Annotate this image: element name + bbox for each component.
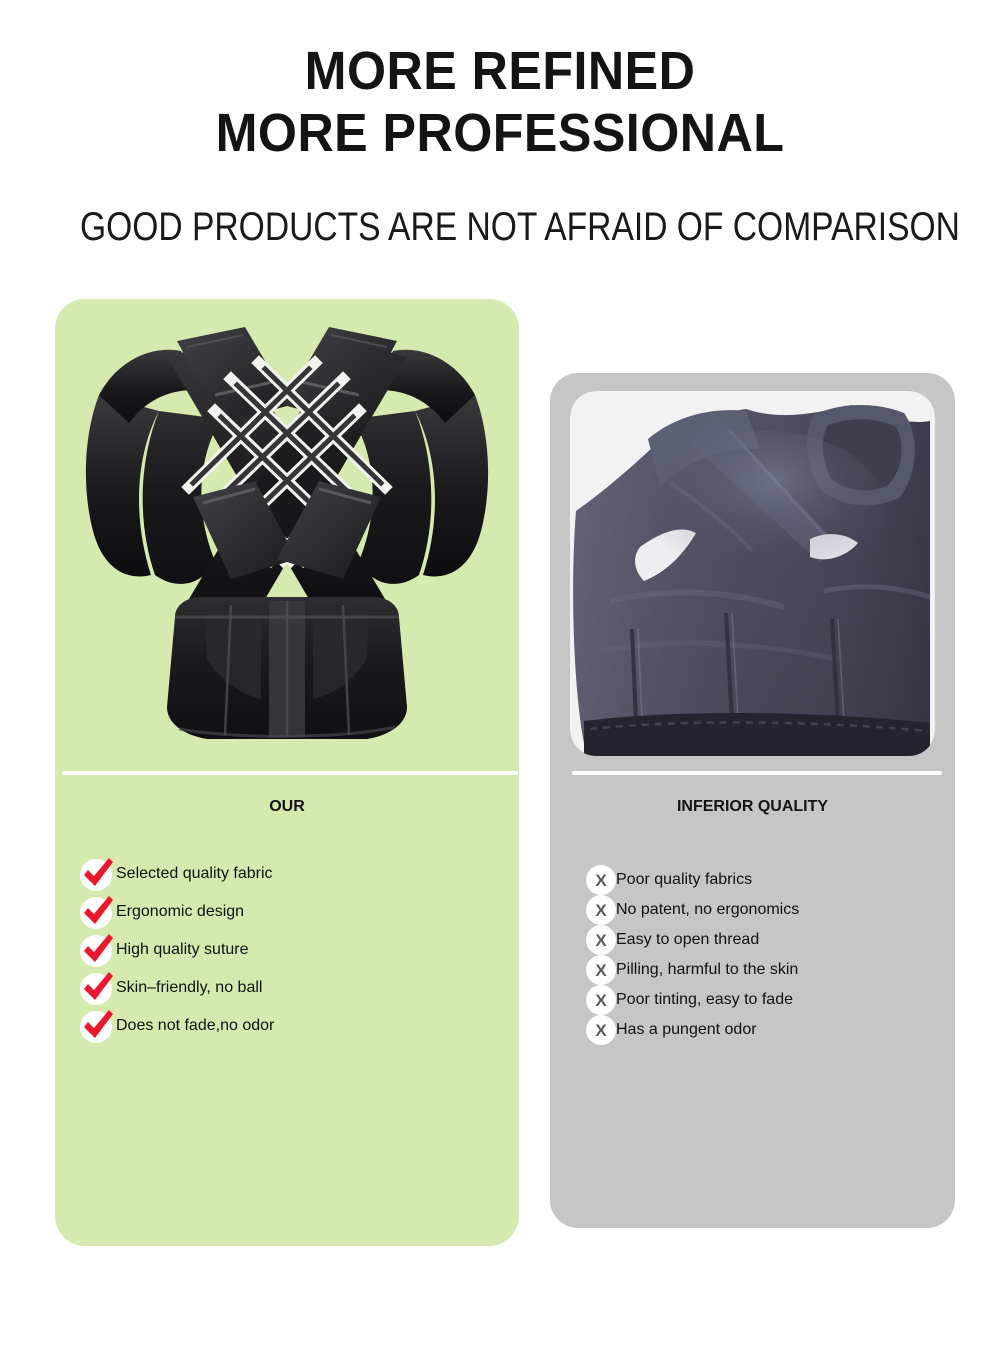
gray-x-icon: X (586, 985, 616, 1015)
list-item-label: Skin–friendly, no ball (116, 979, 262, 997)
gray-x-icon: X (586, 865, 616, 895)
list-item: X Pilling, harmful to the skin (586, 955, 956, 985)
title-line-2: MORE PROFESSIONAL (35, 102, 965, 164)
red-check-icon (78, 1007, 116, 1045)
inferior-feature-list: X Poor quality fabrics X No patent, no e… (586, 865, 956, 1045)
good-column-title: OUR (55, 798, 519, 816)
good-divider (62, 771, 518, 775)
list-item: Skin–friendly, no ball (78, 969, 518, 1007)
inferior-vest-illustration (570, 391, 935, 756)
inferior-column-title: INFERIOR QUALITY (550, 798, 955, 816)
list-item: High quality suture (78, 931, 518, 969)
list-item: Ergonomic design (78, 893, 518, 931)
list-item: Selected quality fabric (78, 855, 518, 893)
gray-x-icon: X (586, 955, 616, 985)
good-product-image (55, 299, 519, 764)
good-product-panel: OUR Selected quality fabric Ergonomic de… (55, 299, 519, 1246)
list-item-label: Selected quality fabric (116, 865, 273, 883)
list-item-label: Ergonomic design (116, 903, 244, 921)
posture-brace-illustration (55, 299, 519, 764)
list-item-label: Poor tinting, easy to fade (616, 991, 793, 1009)
red-check-icon (78, 931, 116, 969)
list-item: X Poor tinting, easy to fade (586, 985, 956, 1015)
red-check-icon (78, 893, 116, 931)
list-item-label: No patent, no ergonomics (616, 901, 799, 919)
list-item-label: Easy to open thread (616, 931, 759, 949)
page-subtitle: GOOD PRODUCTS ARE NOT AFRAID OF COMPARIS… (80, 205, 920, 250)
list-item: X Poor quality fabrics (586, 865, 956, 895)
page-title: MORE REFINED MORE PROFESSIONAL (0, 40, 1000, 164)
list-item: Does not fade,no odor (78, 1007, 518, 1045)
inferior-product-panel: INFERIOR QUALITY X Poor quality fabrics … (550, 373, 955, 1228)
list-item: X No patent, no ergonomics (586, 895, 956, 925)
list-item: X Easy to open thread (586, 925, 956, 955)
list-item-label: Has a pungent odor (616, 1021, 757, 1039)
list-item-label: Does not fade,no odor (116, 1017, 274, 1035)
red-check-icon (78, 855, 116, 893)
good-feature-list: Selected quality fabric Ergonomic design… (78, 855, 518, 1045)
inferior-product-image (570, 391, 935, 756)
title-line-1: MORE REFINED (35, 40, 965, 102)
list-item-label: Pilling, harmful to the skin (616, 961, 798, 979)
gray-x-icon: X (586, 1015, 616, 1045)
list-item: X Has a pungent odor (586, 1015, 956, 1045)
gray-x-icon: X (586, 895, 616, 925)
comparison-infographic: MORE REFINED MORE PROFESSIONAL GOOD PROD… (0, 0, 1000, 1352)
inferior-divider (572, 771, 942, 775)
list-item-label: High quality suture (116, 941, 249, 959)
gray-x-icon: X (586, 925, 616, 955)
list-item-label: Poor quality fabrics (616, 871, 752, 889)
red-check-icon (78, 969, 116, 1007)
